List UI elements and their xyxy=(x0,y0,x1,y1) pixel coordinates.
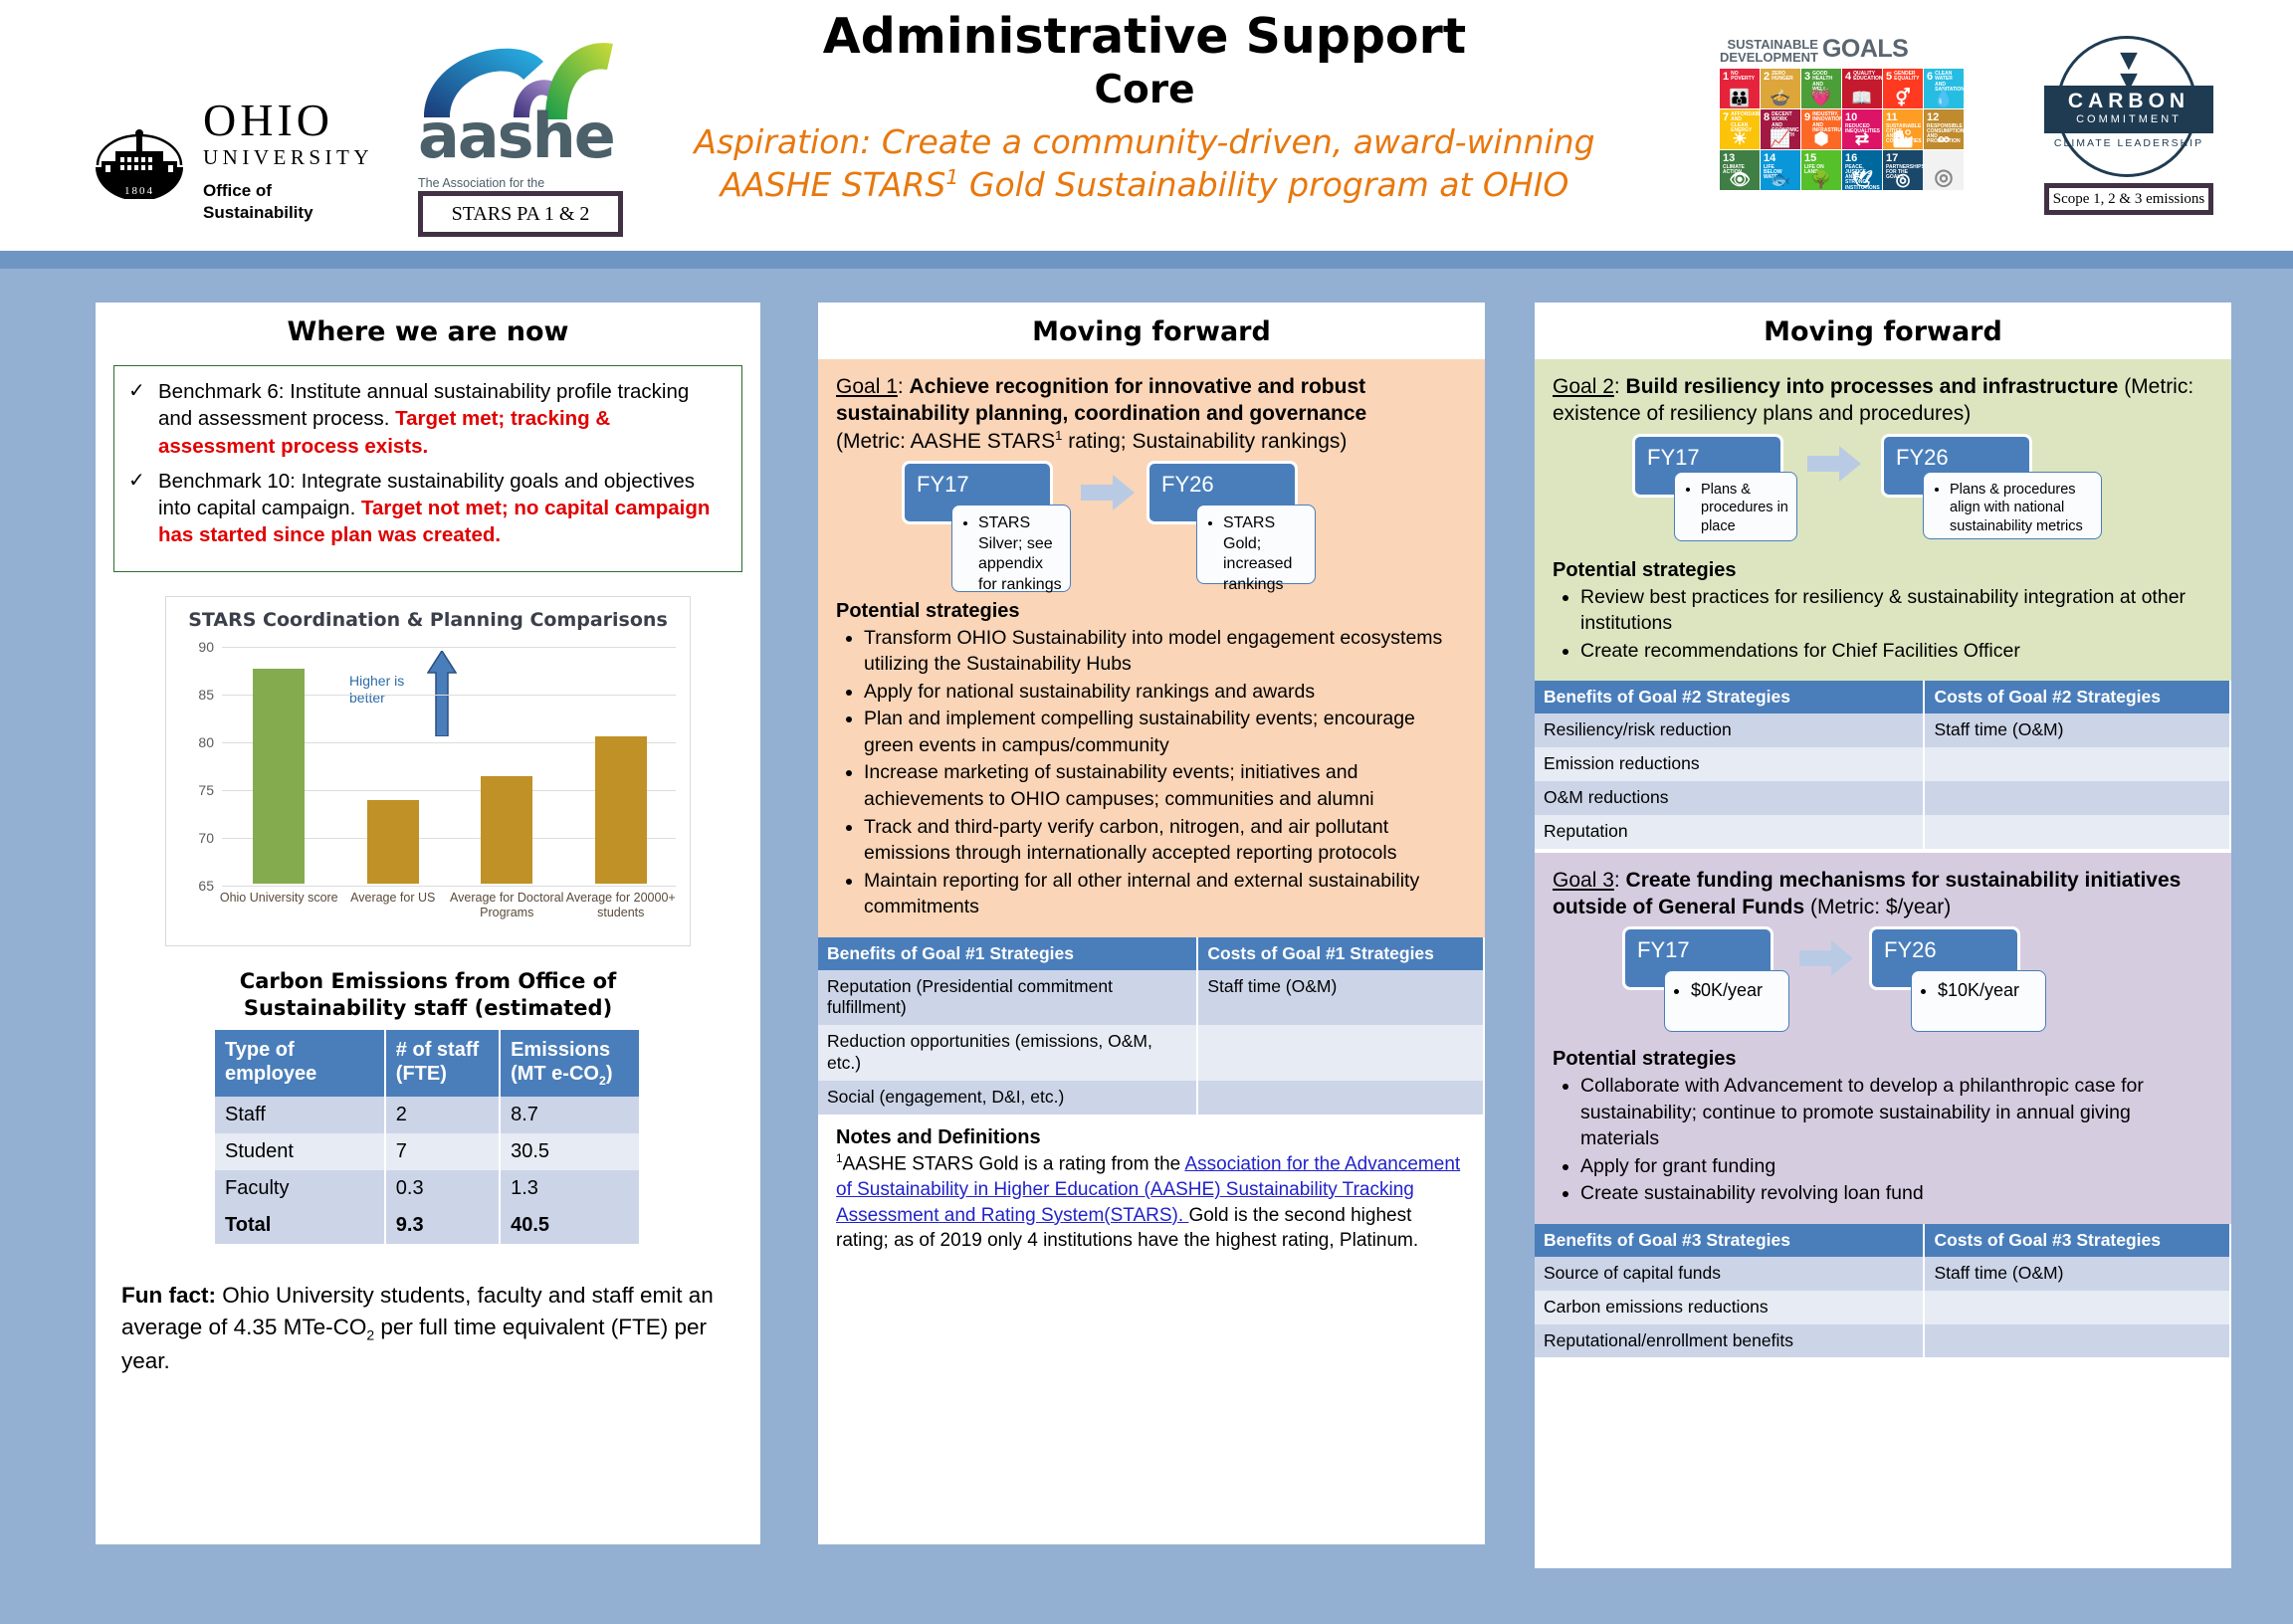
ohio-seal-year: 1804 xyxy=(124,185,154,197)
goal1-fy-flow: FY17 STARS Silver; see appendix for rank… xyxy=(836,461,1467,592)
strategy-item: Review best practices for resiliency & s… xyxy=(1580,584,2213,637)
col-emissions: Emissions (MT e-CO2) xyxy=(500,1030,640,1097)
table-row: Resiliency/risk reductionStaff time (O&M… xyxy=(1535,713,2230,747)
goal2-strategies-list: Review best practices for resiliency & s… xyxy=(1553,584,2213,665)
left-panel-title: Where we are now xyxy=(96,303,760,359)
table-cell: Reputational/enrollment benefits xyxy=(1535,1324,1924,1358)
table-cell: 40.5 xyxy=(500,1207,640,1244)
goal3-fy-flow: FY17 $0K/year FY26 $10K/year xyxy=(1553,926,2213,1040)
table-cell xyxy=(1924,1324,2230,1358)
goal2-strategies-heading: Potential strategies xyxy=(1553,559,2213,582)
x-axis-label: Average for 20000+ students xyxy=(557,891,685,920)
table-cell: 0.3 xyxy=(385,1170,500,1207)
arrow-right-icon xyxy=(1799,938,1855,978)
sdg-goal-14: 14LIFE BELOW WATER🐟 xyxy=(1761,150,1800,190)
sdg-goal-11: 11SUSTAINABLE CITIES AND COMMUNITIES🏙 xyxy=(1883,109,1923,149)
sdg-goal-10: 10REDUCED INEQUALITIES⇄ xyxy=(1842,109,1882,149)
table-cell: 1.3 xyxy=(500,1170,640,1207)
goal1-strategies-heading: Potential strategies xyxy=(836,600,1467,623)
table-cell xyxy=(1197,1081,1484,1115)
strategy-item: Apply for grant funding xyxy=(1580,1153,2213,1180)
goal3-benefits-costs-table: Benefits of Goal #3 Strategies Costs of … xyxy=(1535,1224,2231,1358)
chart-plot-area: Higher is better 657075808590Ohio Univer… xyxy=(222,647,676,884)
sdg-goal-1: 1NO POVERTY👪 xyxy=(1720,69,1760,108)
table-cell: Carbon emissions reductions xyxy=(1535,1291,1924,1324)
higher-is-better-note: Higher is better xyxy=(349,673,415,708)
sdg-goal-8: 8DECENT WORK AND ECONOMIC GROWTH📈 xyxy=(1761,109,1800,149)
table-row: Reputational/enrollment benefits xyxy=(1535,1324,2230,1358)
table-row: Social (engagement, D&I, etc.) xyxy=(818,1081,1484,1115)
table-cell: Staff time (O&M) xyxy=(1924,1257,2230,1291)
table-row: Student730.5 xyxy=(215,1133,640,1170)
table-row: O&M reductions xyxy=(1535,781,2230,815)
goal1-costs-header: Costs of Goal #1 Strategies xyxy=(1197,937,1484,970)
goal3-panel: Goal 3: Create funding mechanisms for su… xyxy=(1535,853,2231,1224)
table-cell: 30.5 xyxy=(500,1133,640,1170)
strategy-item: Transform OHIO Sustainability into model… xyxy=(864,625,1467,678)
goal1-panel: Goal 1: Achieve recognition for innovati… xyxy=(818,359,1485,937)
strategy-item: Track and third-party verify carbon, nit… xyxy=(864,814,1467,867)
table-cell: Resiliency/risk reduction xyxy=(1535,713,1924,747)
fy17-bubble: $0K/year xyxy=(1664,970,1789,1032)
table-row: Reputation (Presidential commitment fulf… xyxy=(818,970,1484,1026)
goal3-benefits-header: Benefits of Goal #3 Strategies xyxy=(1535,1224,1924,1257)
strategy-item: Create sustainability revolving loan fun… xyxy=(1580,1180,2213,1207)
table-cell: 2 xyxy=(385,1097,500,1133)
strategy-item: Plan and implement compelling sustainabi… xyxy=(864,706,1467,758)
goal2-benefits-header: Benefits of Goal #2 Strategies xyxy=(1535,681,1924,713)
fy17-bubble: STARS Silver; see appendix for rankings xyxy=(951,505,1071,592)
col-number-of-staff: # of staff (FTE) xyxy=(385,1030,500,1097)
emissions-table: Type of employee # of staff (FTE) Emissi… xyxy=(215,1030,641,1244)
gridline xyxy=(222,886,676,887)
goal3-heading: Goal 3: Create funding mechanisms for su… xyxy=(1553,867,2213,921)
fy26-bubble: STARS Gold; increased rankings xyxy=(1196,505,1316,584)
table-cell: Total xyxy=(215,1207,385,1244)
sdg-goal-17: 17PARTNERSHIPS FOR THE GOALS◎ xyxy=(1883,150,1923,190)
y-axis-tick: 80 xyxy=(198,734,214,750)
ohio-university-logo: 1804 OHIO UNIVERSITY Office of Sustainab… xyxy=(88,96,386,225)
carbon-bar: CARBON COMMITMENT xyxy=(2044,86,2213,133)
page-title: Administrative Support xyxy=(637,10,1652,65)
y-axis-tick: 90 xyxy=(198,639,214,655)
aashe-wordmark: aashe xyxy=(418,105,617,167)
mid-panel-title: Moving forward xyxy=(818,303,1485,359)
goal1-strategies-list: Transform OHIO Sustainability into model… xyxy=(836,625,1467,920)
goal2-panel: Goal 2: Build resiliency into processes … xyxy=(1535,359,2231,681)
table-row: Emission reductions xyxy=(1535,747,2230,781)
carbon-word: CARBON xyxy=(2044,86,2213,113)
sdg-goal-4: 4QUALITY EDUCATION📖 xyxy=(1842,69,1882,108)
emissions-table-title: Carbon Emissions from Office of Sustaina… xyxy=(96,968,760,1023)
panel-moving-forward-goals23: Moving forward Goal 2: Build resiliency … xyxy=(1535,303,2231,1568)
office-of-sustainability-label: Office of Sustainability xyxy=(203,180,373,223)
table-cell xyxy=(1924,815,2230,849)
sdg-goal-7: 7AFFORDABLE AND CLEAN ENERGY☀ xyxy=(1720,109,1760,149)
table-cell: Emission reductions xyxy=(1535,747,1924,781)
notes-body: 1AASHE STARS Gold is a rating from the A… xyxy=(836,1151,1467,1254)
sdg-goal-15: 15LIFE ON LAND🌳 xyxy=(1801,150,1841,190)
table-header-row: Type of employee # of staff (FTE) Emissi… xyxy=(215,1030,640,1097)
right-panel-title: Moving forward xyxy=(1535,303,2231,359)
panel-where-we-are-now: Where we are now ✓Benchmark 6: Institute… xyxy=(96,303,760,1544)
poster-header: 1804 OHIO UNIVERSITY Office of Sustainab… xyxy=(0,0,2293,251)
table-row: Carbon emissions reductions xyxy=(1535,1291,2230,1324)
sdg-goal-9: 9INDUSTRY, INNOVATION AND INFRASTRUCTURE… xyxy=(1801,109,1841,149)
goal3-strategies-list: Collaborate with Advancement to develop … xyxy=(1553,1073,2213,1207)
ohio-university-word: UNIVERSITY xyxy=(203,147,373,168)
x-axis-label: Average for US xyxy=(329,891,457,906)
climate-leadership-label: CLIMATE LEADERSHIP xyxy=(2044,137,2213,149)
strategy-item: Collaborate with Advancement to develop … xyxy=(1580,1073,2213,1152)
fun-fact-text: Fun fact: Ohio University students, facu… xyxy=(121,1280,734,1377)
chart-bar xyxy=(367,800,419,884)
table-cell: O&M reductions xyxy=(1535,781,1924,815)
y-axis-tick: 65 xyxy=(198,878,214,894)
sdg-goal-3: 3GOOD HEALTH AND WELL-BEING💗 xyxy=(1801,69,1841,108)
check-icon: ✓ xyxy=(128,378,148,460)
fy26-bubble: $10K/year xyxy=(1911,970,2046,1032)
y-axis-tick: 85 xyxy=(198,687,214,703)
sdg-goal-16: 16PEACE, JUSTICE AND STRONG INSTITUTIONS… xyxy=(1842,150,1882,190)
sdg-goal-2: 2ZERO HUNGER🍲 xyxy=(1761,69,1800,108)
goal3-costs-header: Costs of Goal #3 Strategies xyxy=(1924,1224,2230,1257)
table-row: Reduction opportunities (emissions, O&M,… xyxy=(818,1025,1484,1081)
goal2-costs-header: Costs of Goal #2 Strategies xyxy=(1924,681,2230,713)
table-row: Source of capital fundsStaff time (O&M) xyxy=(1535,1257,2230,1291)
notes-and-definitions: Notes and Definitions 1AASHE STARS Gold … xyxy=(818,1115,1485,1264)
panel-moving-forward-goal1: Moving forward Goal 1: Achieve recogniti… xyxy=(818,303,1485,1544)
table-cell: Student xyxy=(215,1133,385,1170)
table-row: Staff28.7 xyxy=(215,1097,640,1133)
table-cell: Staff xyxy=(215,1097,385,1133)
table-cell xyxy=(1197,1025,1484,1081)
page-subtitle: Core xyxy=(637,69,1652,113)
sdg-logo-block: SUSTAINABLE DEVELOPMENT GOALS 1NO POVERT… xyxy=(1720,34,1965,190)
aspiration-statement: Aspiration: Create a community-driven, a… xyxy=(637,121,1652,207)
table-row: Faculty0.31.3 xyxy=(215,1170,640,1207)
strategy-item: Apply for national sustainability rankin… xyxy=(864,679,1467,706)
up-arrow-icon xyxy=(427,651,457,736)
y-axis-tick: 70 xyxy=(198,830,214,846)
table-cell: Faculty xyxy=(215,1170,385,1207)
header-divider xyxy=(0,251,2293,269)
chart-bar xyxy=(595,736,647,884)
title-block: Administrative Support Core Aspiration: … xyxy=(637,10,1652,207)
ohio-wordmark: OHIO xyxy=(203,98,373,143)
table-cell: Reduction opportunities (emissions, O&M,… xyxy=(818,1025,1197,1081)
goal1-benefits-costs-table: Benefits of Goal #1 Strategies Costs of … xyxy=(818,937,1485,1115)
goal3-strategies-heading: Potential strategies xyxy=(1553,1048,2213,1071)
benchmarks-box: ✓Benchmark 6: Institute annual sustainab… xyxy=(113,365,742,572)
col-type-of-employee: Type of employee xyxy=(215,1030,385,1097)
sdg-goal-12: 12RESPONSIBLE CONSUMPTION AND PRODUCTION… xyxy=(1924,109,1964,149)
goal1-benefits-header: Benefits of Goal #1 Strategies xyxy=(818,937,1197,970)
check-icon: ✓ xyxy=(128,468,148,549)
fy26-bubble: Plans & procedures align with national s… xyxy=(1923,472,2102,539)
x-axis-label: Ohio University score xyxy=(215,891,342,906)
table-cell xyxy=(1924,747,2230,781)
goal1-heading: Goal 1: Achieve recognition for innovati… xyxy=(836,373,1467,455)
sdg-goal-13: 13CLIMATE ACTION👁 xyxy=(1720,150,1760,190)
table-cell: Staff time (O&M) xyxy=(1197,970,1484,1026)
stars-comparison-chart: STARS Coordination & Planning Comparison… xyxy=(165,596,691,946)
scope-emissions-badge: Scope 1, 2 & 3 emissions xyxy=(2044,183,2213,215)
stars-pa-badge: STARS PA 1 & 2 xyxy=(418,191,623,237)
ohio-seal-icon: 1804 xyxy=(88,121,191,199)
sdg-header: SUSTAINABLE DEVELOPMENT GOALS xyxy=(1720,34,1965,64)
sdg-goal-grid: 1NO POVERTY👪2ZERO HUNGER🍲3GOOD HEALTH AN… xyxy=(1720,69,1965,190)
chart-title: STARS Coordination & Planning Comparison… xyxy=(166,597,690,631)
fy17-bubble: Plans & procedures in place xyxy=(1674,472,1797,541)
table-cell xyxy=(1924,1291,2230,1324)
carbon-commitment-logo: ▼▼ CARBON COMMITMENT CLIMATE LEADERSHIP … xyxy=(2044,34,2213,215)
table-cell: 8.7 xyxy=(500,1097,640,1133)
benchmark-text: Benchmark 6: Institute annual sustainabi… xyxy=(158,378,728,460)
table-row: Reputation xyxy=(1535,815,2230,849)
arrow-right-icon xyxy=(1081,473,1137,512)
strategy-item: Create recommendations for Chief Facilit… xyxy=(1580,638,2213,665)
x-axis-label: Average for Doctoral Programs xyxy=(443,891,570,920)
strategy-item: Maintain reporting for all other interna… xyxy=(864,868,1467,920)
arrow-right-icon xyxy=(1807,444,1863,484)
table-cell: Reputation xyxy=(1535,815,1924,849)
sdg-goals-word: GOALS xyxy=(1822,35,1908,64)
gridline xyxy=(222,647,676,648)
goal2-benefits-costs-table: Benefits of Goal #2 Strategies Costs of … xyxy=(1535,681,2231,849)
table-cell: Social (engagement, D&I, etc.) xyxy=(818,1081,1197,1115)
table-cell: Reputation (Presidential commitment fulf… xyxy=(818,970,1197,1026)
table-cell: 9.3 xyxy=(385,1207,500,1244)
chart-bar xyxy=(253,669,305,884)
commitment-word: COMMITMENT xyxy=(2044,113,2213,125)
table-row: Total9.340.5 xyxy=(215,1207,640,1244)
table-cell: Staff time (O&M) xyxy=(1924,713,2230,747)
benchmark-text: Benchmark 10: Integrate sustainability g… xyxy=(158,468,728,549)
table-cell xyxy=(1924,781,2230,815)
sdg-goal-wheel: ◎ xyxy=(1924,150,1964,190)
table-cell: Source of capital funds xyxy=(1535,1257,1924,1291)
chart-bar xyxy=(481,776,532,884)
notes-heading: Notes and Definitions xyxy=(836,1126,1467,1149)
strategy-item: Increase marketing of sustainability eve… xyxy=(864,759,1467,812)
benchmark-item: ✓Benchmark 10: Integrate sustainability … xyxy=(128,468,728,549)
table-cell: 7 xyxy=(385,1133,500,1170)
benchmark-item: ✓Benchmark 6: Institute annual sustainab… xyxy=(128,378,728,460)
sdg-goal-6: 6CLEAN WATER AND SANITATION💧 xyxy=(1924,69,1964,108)
goal2-fy-flow: FY17 Plans & procedures in place FY26 Pl… xyxy=(1553,434,2213,551)
sdg-goal-5: 5GENDER EQUALITY⚥ xyxy=(1883,69,1923,108)
goal2-heading: Goal 2: Build resiliency into processes … xyxy=(1553,373,2213,428)
y-axis-tick: 75 xyxy=(198,782,214,798)
